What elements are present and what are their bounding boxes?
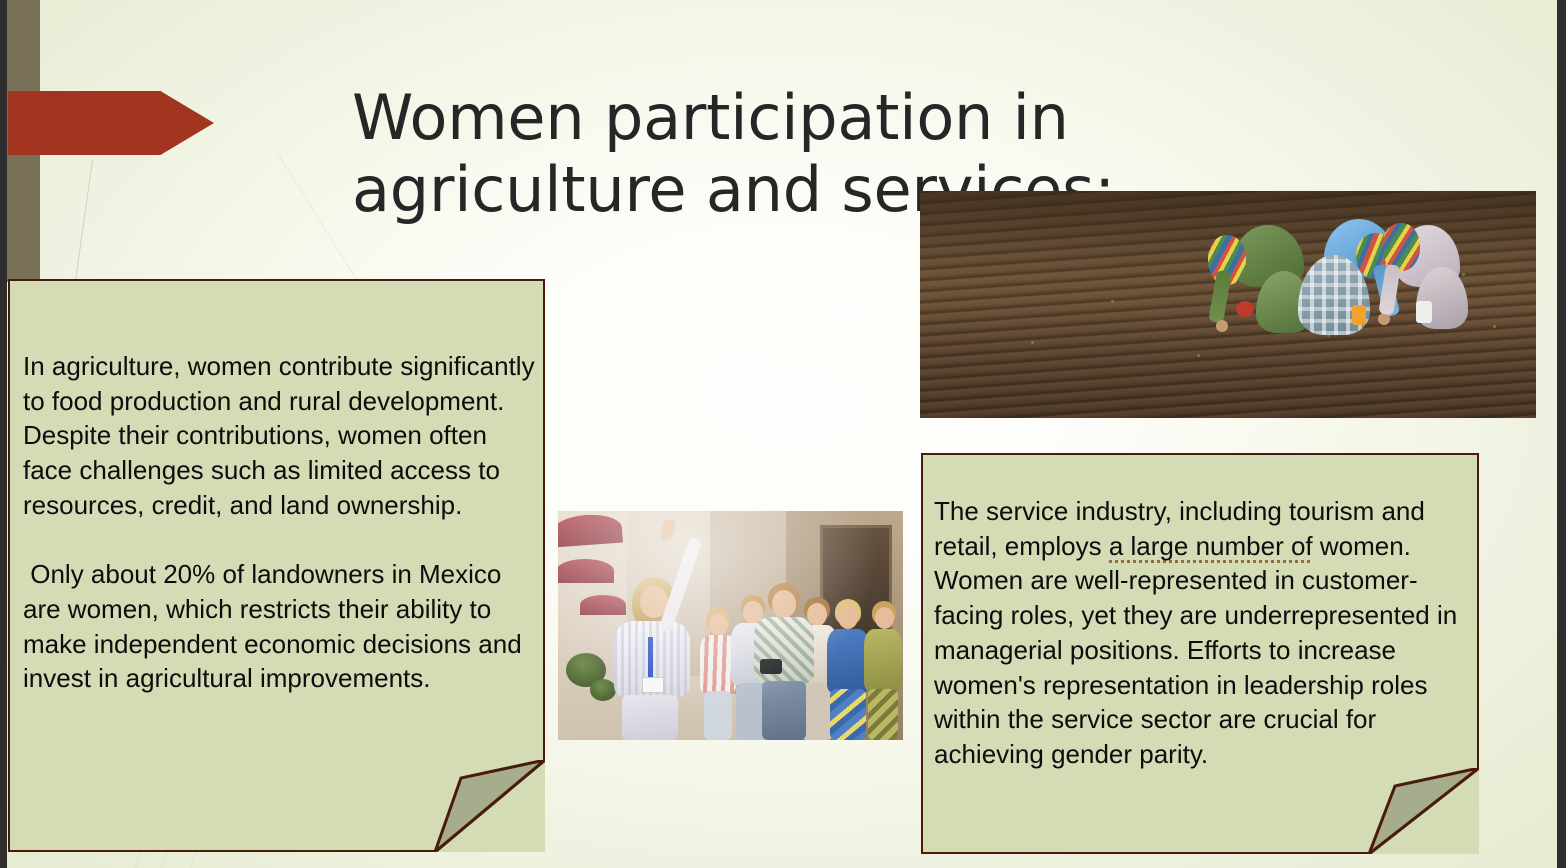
tourism-service-photo <box>558 511 903 740</box>
tourist-with-phone <box>754 583 816 740</box>
potted-plant-2 <box>590 679 616 701</box>
note-right-body: The service industry, including tourism … <box>934 494 1468 772</box>
tour-guide <box>614 577 696 740</box>
agriculture-field-photo <box>920 191 1536 418</box>
note-left-body: In agriculture, women contribute signifi… <box>23 349 535 696</box>
red-arrow-accent-shape <box>8 91 214 155</box>
field-worker-3 <box>1382 215 1486 337</box>
note-right-text-part-2: women. Women are well-represented in cus… <box>934 531 1464 769</box>
cafe-umbrella-1 <box>558 513 623 548</box>
note-box-services: The service industry, including tourism … <box>921 453 1479 854</box>
grammar-flagged-phrase[interactable]: a large number of <box>1109 531 1313 564</box>
note-left-paragraph-2: Only about 20% of landowners in Mexico a… <box>23 559 529 693</box>
cafe-umbrella-2 <box>558 559 614 583</box>
note-left-paragraph-1: In agriculture, women contribute signifi… <box>23 351 542 520</box>
slide-frame-right-edge <box>1557 0 1566 868</box>
note-box-agriculture: In agriculture, women contribute signifi… <box>8 279 545 852</box>
folded-corner-right-box <box>1359 768 1479 854</box>
slide-frame-left-edge <box>0 0 7 868</box>
tourist-background-5 <box>864 601 903 740</box>
presentation-slide: Women participation in agriculture and s… <box>0 0 1566 868</box>
folded-corner-left-box <box>425 760 545 852</box>
